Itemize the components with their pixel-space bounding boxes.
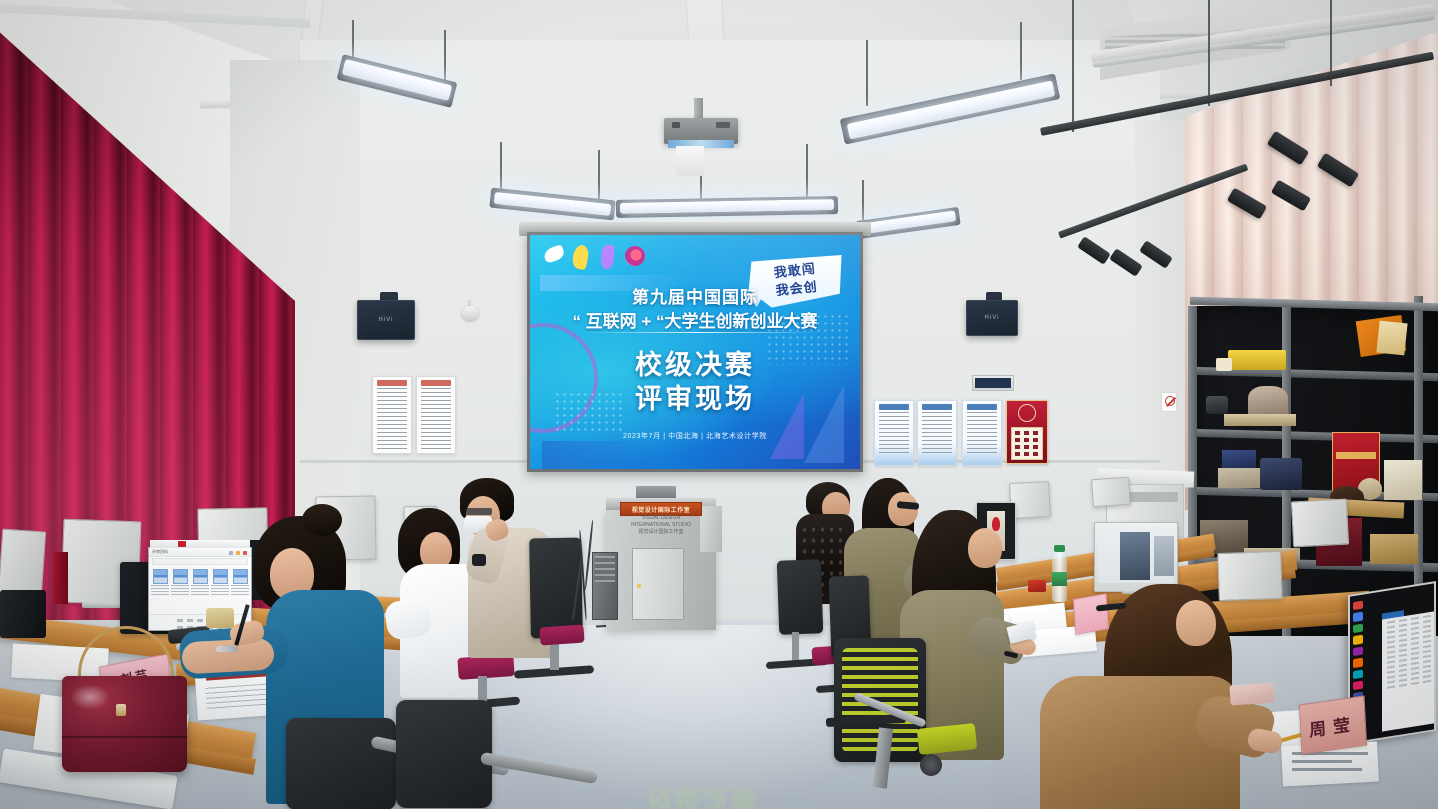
chair-seat-pink-l3[interactable] bbox=[539, 624, 584, 645]
name-card-front-right: 周莹 bbox=[1299, 695, 1367, 754]
chair-post bbox=[792, 632, 799, 662]
desk-item-pouch bbox=[1229, 682, 1274, 705]
monitor-foot bbox=[82, 602, 124, 608]
document-icon bbox=[233, 569, 248, 584]
poster-body-lines bbox=[967, 412, 997, 454]
poster-header-bar bbox=[377, 380, 407, 386]
track-suspension-wire bbox=[1072, 0, 1074, 132]
design-preview-monitor[interactable] bbox=[1094, 522, 1178, 592]
screen-logo-row bbox=[544, 243, 674, 283]
screen-headline-2: 评审现场 bbox=[530, 377, 860, 416]
light-wire bbox=[862, 180, 864, 220]
screen-footer-text: 2023年7月 | 中国北海 | 北海艺术设计学院 bbox=[530, 431, 860, 441]
handbag-clasp bbox=[116, 704, 126, 716]
screen-title-line-2: “ 互联网 + “大学生创新创业大赛 bbox=[530, 307, 860, 332]
desk-item-red-object bbox=[1028, 580, 1046, 592]
spiral-logo-icon bbox=[625, 243, 647, 273]
shelf-item-jar bbox=[1216, 358, 1232, 371]
podium-door-knob[interactable] bbox=[637, 584, 641, 588]
projector-vent-2 bbox=[716, 122, 730, 128]
podium-plaque-en: VISUAL DESIGN INTERNATIONAL STUDIO 视觉设计国… bbox=[621, 515, 701, 537]
preview-figure-2 bbox=[1154, 536, 1174, 576]
shelf-item-sculpture bbox=[1248, 386, 1288, 416]
shelf-item-white-box bbox=[1384, 460, 1422, 500]
classroom-photo-scene: 我敢闯 我会创 第九届中国国际 “ 互联网 + “大学生创新创业大赛 校级决赛 … bbox=[0, 0, 1438, 809]
poster-lab-rules-2 bbox=[416, 376, 456, 454]
poster-body-lines bbox=[922, 412, 952, 454]
poster-body-lines bbox=[377, 388, 407, 450]
light-wire bbox=[866, 40, 868, 106]
light-wire bbox=[1020, 22, 1022, 80]
bag-dark bbox=[0, 590, 46, 638]
award-line bbox=[1015, 445, 1039, 449]
screen-divider-rule bbox=[576, 332, 820, 333]
handbag-seam bbox=[62, 736, 187, 738]
file-item[interactable] bbox=[171, 569, 189, 595]
file-item[interactable] bbox=[191, 569, 209, 595]
handbag-highlight bbox=[70, 684, 110, 710]
bottle-cap bbox=[1054, 545, 1065, 552]
floor-screen-reflection: 校级决赛 bbox=[608, 758, 798, 809]
chair-back-l3[interactable] bbox=[529, 538, 583, 639]
document-icon bbox=[173, 569, 188, 584]
desktop-app-icon[interactable] bbox=[1353, 623, 1363, 633]
ribbon-logo-icon bbox=[598, 243, 620, 273]
screen-decor-bar bbox=[542, 441, 662, 469]
desktop-app-icon[interactable] bbox=[1353, 681, 1363, 691]
desktop-app-icon[interactable] bbox=[1353, 669, 1363, 679]
award-line bbox=[1015, 431, 1039, 435]
wristwatch-dark bbox=[472, 554, 486, 566]
forearm bbox=[181, 638, 275, 675]
light-wire bbox=[598, 150, 600, 204]
shelf-item-gold-box bbox=[1370, 534, 1418, 564]
ceiling-camera bbox=[462, 306, 478, 320]
file-label bbox=[211, 585, 229, 595]
podium-en-line-1: VISUAL DESIGN bbox=[621, 515, 701, 522]
desktop-app-icon[interactable] bbox=[1353, 612, 1363, 622]
projector-body-lower bbox=[676, 146, 704, 176]
document-icon bbox=[213, 569, 228, 584]
head bbox=[1176, 600, 1216, 646]
name-card-text: 周莹 bbox=[1308, 709, 1357, 741]
minimize-icon[interactable] bbox=[229, 551, 233, 555]
bottle-label bbox=[1052, 572, 1067, 586]
wall-notice-screen bbox=[975, 378, 1011, 388]
file-explorer-path-bar[interactable] bbox=[152, 558, 248, 565]
file-item[interactable] bbox=[211, 569, 229, 595]
file-explorer-titlebar[interactable]: 评审资料 bbox=[149, 548, 251, 557]
screen-title-line-1: 第九届中国国际 bbox=[530, 283, 860, 308]
monitor-back-r4 bbox=[1217, 551, 1283, 601]
projector-vent bbox=[672, 122, 680, 128]
podium-plaque-cn: 视觉设计国际工作室 bbox=[620, 502, 702, 516]
name-card-mid-right bbox=[1073, 593, 1109, 635]
shelf-item-blue-box bbox=[1222, 450, 1256, 468]
wristwatch bbox=[216, 646, 238, 652]
bird-logo-icon bbox=[544, 243, 566, 273]
poster-hygiene-fire-rules bbox=[962, 400, 1002, 466]
hair-bun bbox=[302, 504, 342, 536]
desktop-app-icon[interactable] bbox=[1353, 646, 1363, 656]
podium-en-line-2: INTERNATIONAL STUDIO bbox=[621, 522, 701, 529]
file-label bbox=[171, 585, 189, 595]
no-smoking-sign bbox=[1161, 392, 1177, 412]
podium-en-line-3: 视觉设计国际工作室 bbox=[621, 529, 701, 536]
design-preview-screen bbox=[1098, 526, 1174, 583]
award-line bbox=[1015, 438, 1039, 442]
shelf-item-beige-box bbox=[1218, 468, 1260, 488]
monitor-back-r1 bbox=[1091, 477, 1131, 508]
monitor-logo-band bbox=[54, 552, 68, 604]
document-window bbox=[1382, 611, 1436, 732]
podium-side-box bbox=[700, 506, 722, 552]
chair-hub bbox=[920, 754, 942, 776]
file-label bbox=[191, 585, 209, 595]
poster-header-bar bbox=[967, 404, 997, 410]
award-seal-icon bbox=[1018, 404, 1036, 422]
close-icon[interactable] bbox=[243, 551, 247, 555]
chair-back-r1[interactable] bbox=[777, 559, 824, 634]
document-icon bbox=[193, 569, 208, 584]
poster-body-lines bbox=[421, 388, 451, 450]
shelf-item-navy-fabric bbox=[1260, 458, 1302, 490]
monitor-logo-red bbox=[178, 541, 186, 547]
track-suspension-wire bbox=[1208, 0, 1210, 106]
paper-line bbox=[1292, 768, 1362, 771]
poster-equipment-safety bbox=[917, 400, 957, 466]
speaker-right-brand: HiVi bbox=[985, 315, 1000, 321]
shelf-item-board bbox=[1224, 414, 1296, 426]
poster-monitor-accent bbox=[992, 517, 1000, 531]
file-explorer-monitor[interactable]: 评审资料 bbox=[148, 547, 252, 631]
file-item[interactable] bbox=[231, 569, 249, 595]
monitor-back-l0 bbox=[0, 529, 46, 598]
desk-item-folder bbox=[206, 608, 234, 628]
poster-header-bar bbox=[879, 404, 909, 410]
poster-header-bar bbox=[922, 404, 952, 410]
poster-lab-rules-1 bbox=[372, 376, 412, 454]
award-line bbox=[1015, 452, 1039, 456]
no-smoking-icon bbox=[1165, 396, 1175, 406]
paper-line bbox=[1292, 760, 1352, 763]
maximize-icon[interactable] bbox=[236, 551, 240, 555]
glasses-icon bbox=[466, 508, 492, 515]
speaker-left: HiVi bbox=[357, 300, 415, 340]
file-label bbox=[151, 585, 169, 595]
speaker-left-brand: HiVi bbox=[379, 317, 394, 323]
head bbox=[968, 528, 1002, 568]
projection-screen-frame: 我敢闯 我会创 第九届中国国际 “ 互联网 + “大学生创新创业大赛 校级决赛 … bbox=[527, 232, 863, 472]
light-wire bbox=[806, 144, 808, 202]
preview-figure bbox=[1120, 532, 1150, 580]
projection-screen: 我敢闯 我会创 第九届中国国际 “ 互联网 + “大学生创新创业大赛 校级决赛 … bbox=[530, 235, 860, 469]
shelf-item-cream-box bbox=[1376, 321, 1407, 356]
light-wire bbox=[444, 30, 446, 82]
shelf-item-dark-bowl bbox=[1206, 396, 1228, 414]
file-item[interactable] bbox=[151, 569, 169, 595]
poster-header-bar bbox=[421, 380, 451, 386]
desktop-app-icon[interactable] bbox=[1353, 601, 1363, 611]
speaker-right: HiVi bbox=[966, 300, 1018, 336]
file-explorer-items bbox=[149, 566, 251, 595]
chair-back-l2b[interactable] bbox=[396, 700, 492, 808]
shelf-item-bottles bbox=[1228, 350, 1286, 370]
chair-back-l1[interactable] bbox=[286, 718, 396, 809]
monitor-back-r3 bbox=[1291, 499, 1349, 548]
desktop-app-icon[interactable] bbox=[1353, 635, 1363, 645]
file-explorer-window-title: 评审资料 bbox=[152, 549, 168, 555]
poster-computer-lab-rules bbox=[874, 400, 914, 466]
monitor-bezel-top bbox=[150, 540, 250, 548]
file-label bbox=[231, 585, 249, 595]
document-icon bbox=[153, 569, 168, 584]
pc-drive-bays bbox=[595, 556, 615, 582]
podium-plaque-cn-text: 视觉设计国际工作室 bbox=[632, 505, 691, 514]
desktop-app-icon[interactable] bbox=[1353, 658, 1363, 668]
leaf-logo-icon bbox=[571, 243, 593, 273]
award-inner-card bbox=[1011, 427, 1043, 460]
red-box-band bbox=[1336, 452, 1376, 459]
poster-body-lines bbox=[879, 412, 909, 454]
